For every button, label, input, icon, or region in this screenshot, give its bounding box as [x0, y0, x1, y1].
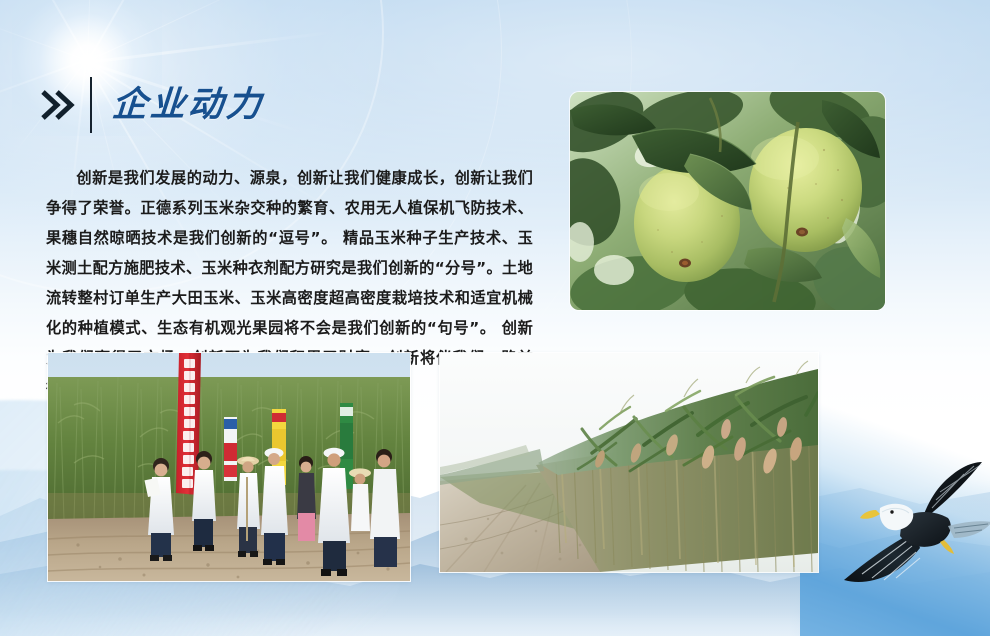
flying-eagle-icon [836, 460, 990, 610]
photo-corn-field-rows [440, 353, 818, 572]
brochure-page: 企业动力 创新是我们发展的动力、源泉，创新让我们健康成长，创新让我们争得了荣誉。… [0, 0, 990, 636]
page-title: 企业动力 [111, 88, 265, 123]
photo-pears-on-tree [570, 92, 885, 310]
header-divider [90, 77, 92, 133]
section-header: 企业动力 [38, 76, 264, 134]
photo-field-demonstration-meeting [48, 353, 410, 581]
double-chevron-right-icon [38, 85, 78, 125]
